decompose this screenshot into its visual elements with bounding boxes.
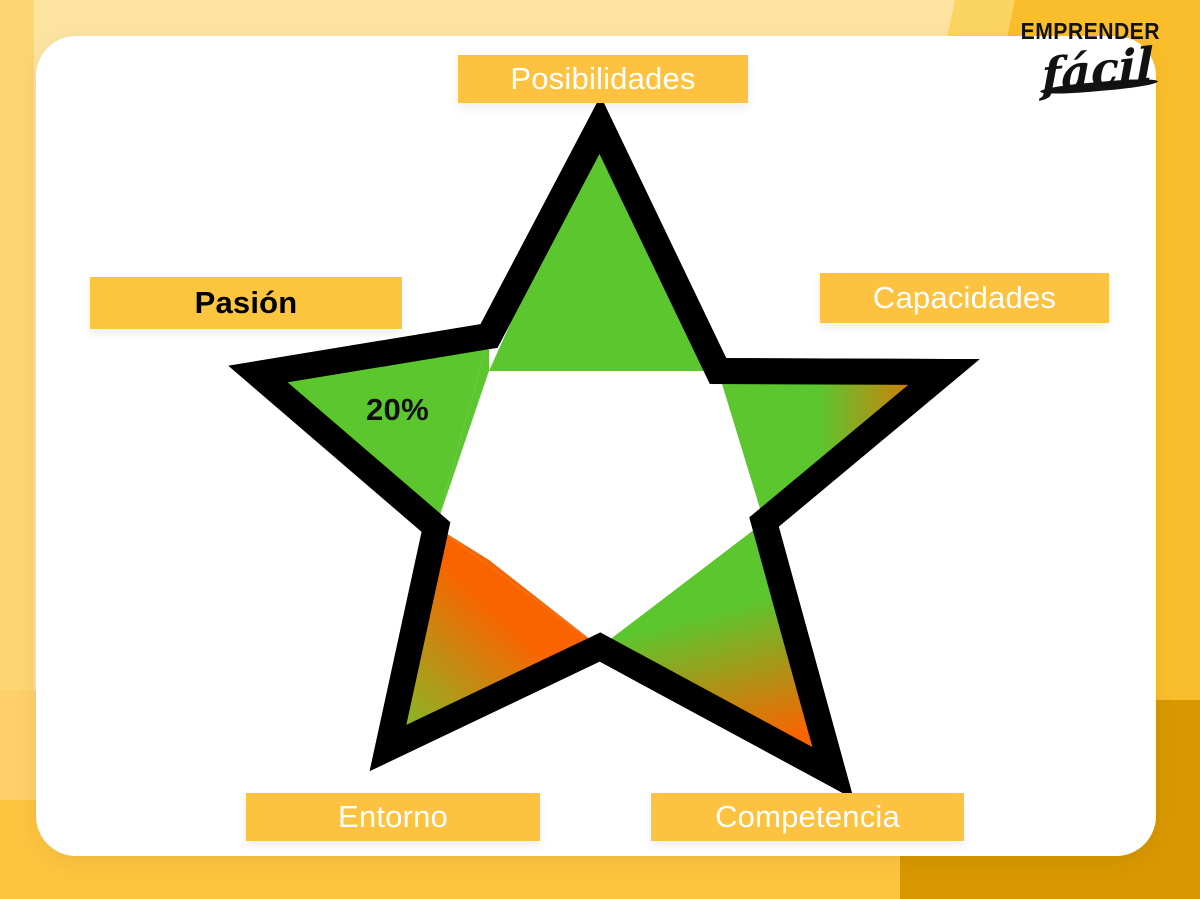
label-entorno-text: Entorno xyxy=(338,799,448,835)
content-card xyxy=(36,36,1156,856)
label-competencia-text: Competencia xyxy=(715,799,900,835)
label-posibilidades[interactable]: Posibilidades xyxy=(458,55,748,103)
label-capacidades[interactable]: Capacidades xyxy=(820,273,1109,323)
label-entorno[interactable]: Entorno xyxy=(246,793,540,841)
logo-script-wrap: fácil xyxy=(980,39,1160,95)
infographic-canvas: EMPRENDER fácil xyxy=(0,0,1200,899)
label-posibilidades-text: Posibilidades xyxy=(510,61,695,97)
label-pasion[interactable]: Pasión xyxy=(90,277,402,329)
brand-logo: EMPRENDER fácil xyxy=(980,20,1160,116)
label-competencia[interactable]: Competencia xyxy=(651,793,964,841)
label-capacidades-text: Capacidades xyxy=(873,280,1056,316)
label-pasion-text: Pasión xyxy=(195,285,298,321)
segment-value-pasion: 20% xyxy=(366,392,429,428)
